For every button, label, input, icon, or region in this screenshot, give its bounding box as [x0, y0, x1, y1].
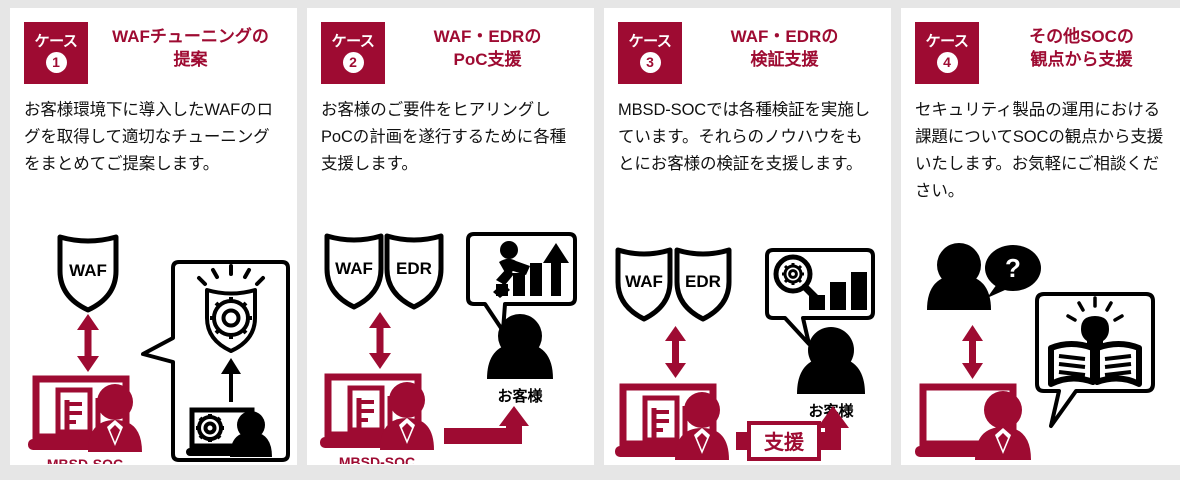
soc-analyst-laptop-icon: MBSD-SOC [320, 377, 434, 464]
support-tag-arrow: 支援 [736, 406, 849, 459]
waf-shield-icon: WAF [618, 250, 670, 319]
double-arrow-icon [77, 314, 99, 372]
svg-text:WAF: WAF [69, 261, 107, 280]
card-header: ケース 1 WAFチューニングの 提案 [24, 22, 283, 84]
soc-analyst-laptop-icon: MBSD-SOC [615, 387, 729, 464]
edr-shield-icon: EDR [387, 236, 441, 307]
card-header: ケース 3 WAF・EDRの 検証支援 [618, 22, 877, 84]
solution-callout-panel [143, 262, 288, 460]
question-mark-label: ? [1005, 253, 1021, 283]
double-arrow-icon [962, 325, 983, 379]
soc-label: MBSD-SOC [47, 456, 123, 464]
double-arrow-icon [665, 326, 686, 378]
soc-label: MBSD-SOC [339, 454, 415, 464]
open-book-icon [1051, 344, 1139, 384]
case-4-illustration: ? MBSD- [901, 232, 1180, 464]
case-badge-3: ケース 3 [618, 22, 682, 84]
case-card-2: ケース 2 WAF・EDRの PoC支援 お客様のご要件をヒアリングしPoCの計… [307, 8, 594, 465]
badge-word: ケース [926, 34, 969, 50]
support-tag-label: 支援 [764, 430, 805, 454]
documents-icon [58, 390, 98, 436]
svg-text:EDR: EDR [685, 272, 721, 291]
card-body-text: MBSD-SOCでは各種検証を実施しています。それらのノウハウをもとにお客様の検… [618, 97, 877, 178]
customer-person-icon [927, 243, 991, 310]
card-title: WAF・EDRの PoC支援 [395, 22, 580, 71]
waf-shield-icon: WAF [327, 236, 381, 307]
knowledge-bubble [1037, 294, 1153, 426]
svg-text:WAF: WAF [625, 272, 663, 291]
case-badge-4: ケース 4 [915, 22, 979, 84]
customer-person-icon: お客様 [487, 314, 553, 405]
question-bubble-icon: ? [985, 245, 1041, 298]
customer-label: お客様 [497, 387, 543, 405]
case-badge-2: ケース 2 [321, 22, 385, 84]
case-card-1: ケース 1 WAFチューニングの 提案 お客様環境下に導入したWAFのログを取得… [10, 8, 297, 465]
case-1-illustration: WAF [10, 214, 297, 464]
soc-analyst-laptop-icon: MBSD-SOC [28, 379, 142, 464]
analyst-person-icon [975, 391, 1031, 460]
case-badge-1: ケース 1 [24, 22, 88, 84]
svg-text:WAF: WAF [335, 259, 373, 278]
case-cards-board: ケース 1 WAFチューニングの 提案 お客様環境下に導入したWAFのログを取得… [0, 0, 1180, 480]
badge-number: 4 [937, 52, 958, 73]
badge-number: 3 [640, 52, 661, 73]
documents-icon [350, 388, 390, 434]
edr-shield-icon: EDR [677, 250, 729, 319]
soc-analyst-laptop-icon: MBSD-SOC [915, 387, 1031, 464]
badge-number: 1 [46, 52, 67, 73]
badge-word: ケース [35, 34, 78, 50]
badge-number: 2 [343, 52, 364, 73]
card-header: ケース 4 その他SOCの 観点から支援 [915, 22, 1174, 84]
card-title: その他SOCの 観点から支援 [989, 22, 1174, 71]
card-body-text: セキュリティ製品の運用における課題についてSOCの観点から支援いたします。お気軽… [915, 97, 1174, 205]
svg-text:EDR: EDR [396, 259, 432, 278]
documents-icon [645, 398, 685, 444]
card-body-text: お客様環境下に導入したWAFのログを取得して適切なチューニングをまとめてご提案し… [24, 97, 283, 178]
waf-shield-icon: WAF [60, 237, 116, 310]
card-body-text: お客様のご要件をヒアリングしPoCの計画を遂行するために各種支援します。 [321, 97, 580, 178]
card-header: ケース 2 WAF・EDRの PoC支援 [321, 22, 580, 84]
case-card-4: ケース 4 その他SOCの 観点から支援 セキュリティ製品の運用における課題につ… [901, 8, 1180, 465]
badge-word: ケース [629, 34, 672, 50]
badge-word: ケース [332, 34, 375, 50]
double-arrow-icon [369, 312, 391, 369]
case-2-illustration: WAF EDR [307, 214, 594, 464]
case-3-illustration: WAF EDR [604, 232, 891, 464]
case-card-3: ケース 3 WAF・EDRの 検証支援 MBSD-SOCでは各種検証を実施してい… [604, 8, 891, 465]
card-title: WAFチューニングの 提案 [98, 22, 283, 71]
card-title: WAF・EDRの 検証支援 [692, 22, 877, 71]
support-arrow-icon [444, 406, 529, 444]
